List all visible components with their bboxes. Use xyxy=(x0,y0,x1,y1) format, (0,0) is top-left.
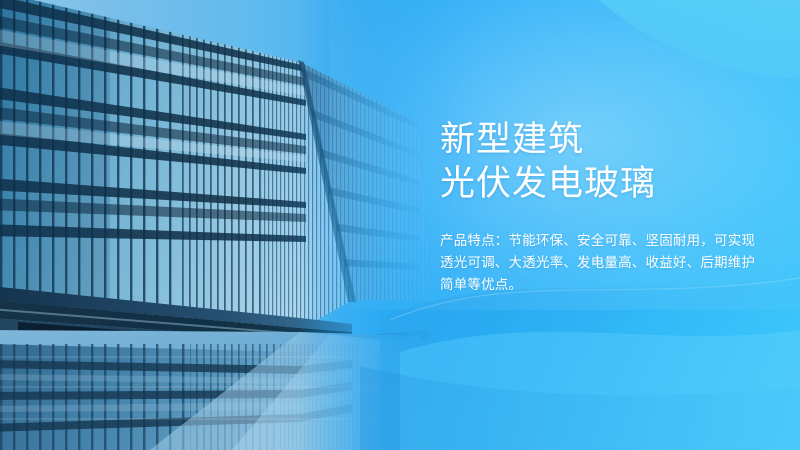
headline-line-2: 光伏发电玻璃 xyxy=(440,162,770,206)
headline-line-1: 新型建筑 xyxy=(440,120,584,159)
product-banner: 新型建筑 光伏发电玻璃 产品特点：节能环保、安全可靠、坚固耐用，可实现透光可调、… xyxy=(0,0,800,450)
building-photo xyxy=(0,0,470,450)
headline: 新型建筑 光伏发电玻璃 xyxy=(440,118,770,206)
product-features-text: 产品特点：节能环保、安全可靠、坚固耐用，可实现透光可调、大透光率、发电量高、收益… xyxy=(440,230,766,296)
copy-block: 新型建筑 光伏发电玻璃 产品特点：节能环保、安全可靠、坚固耐用，可实现透光可调、… xyxy=(440,118,770,296)
